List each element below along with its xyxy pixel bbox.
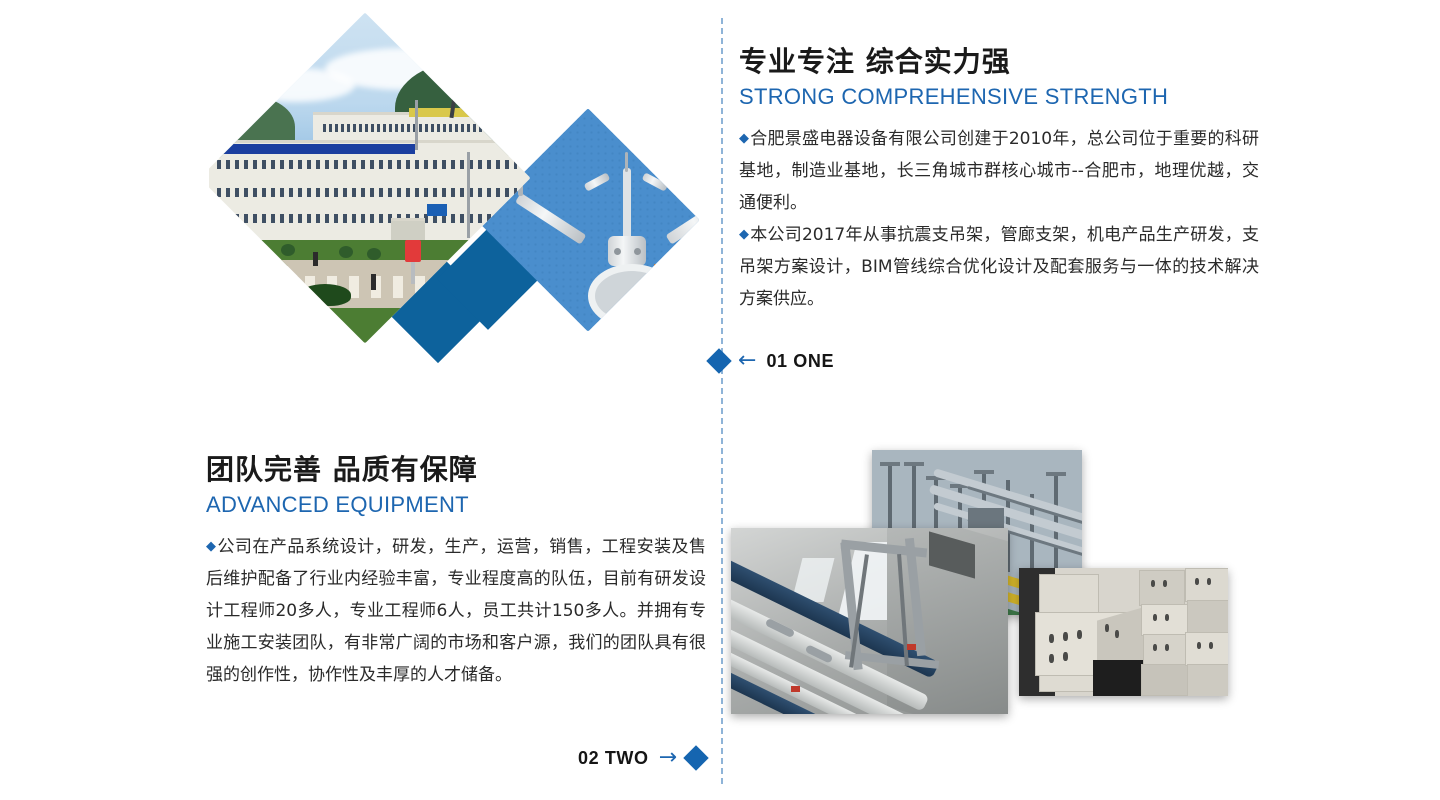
bullet-diamond-icon: ◆ (739, 131, 749, 146)
bullet-diamond-icon: ◆ (739, 227, 749, 242)
paragraph-text: 合肥景盛电器设备有限公司创建于2010年，总公司位于重要的科研基地，制造业基地，… (739, 129, 1259, 213)
cable-tray-stack-illustration (1019, 568, 1228, 696)
section-two-text: 团队完善 品质有保障 ADVANCED EQUIPMENT ◆公司在产品系统设计… (206, 452, 706, 691)
step-marker-two[interactable]: 02 TWO → (578, 745, 705, 771)
bullet-diamond-icon: ◆ (206, 539, 216, 554)
marker-diamond-icon (706, 348, 731, 373)
arrow-right-icon: → (659, 747, 677, 769)
section-one-paragraph-1: ◆合肥景盛电器设备有限公司创建于2010年，总公司位于重要的科研基地，制造业基地… (739, 123, 1259, 219)
section-one-paragraph-2: ◆本公司2017年从事抗震支吊架，管廊支架，机电产品生产研发，支吊架方案设计，B… (739, 219, 1259, 315)
paragraph-text: 本公司2017年从事抗震支吊架，管廊支架，机电产品生产研发，支吊架方案设计，BI… (739, 225, 1259, 309)
pipe-support-photo (731, 528, 1008, 714)
vertical-dashed-divider (721, 18, 723, 784)
section-two-cn-title: 团队完善 品质有保障 (206, 452, 706, 487)
marker-two-label: 02 TWO (578, 748, 649, 769)
section-two-en-title: ADVANCED EQUIPMENT (206, 491, 706, 519)
arrow-left-icon: ← (738, 350, 756, 372)
marker-one-label: 01 ONE (766, 351, 834, 372)
section-one-en-title: STRONG COMPREHENSIVE STRENGTH (739, 83, 1259, 111)
cable-tray-photo (1019, 568, 1228, 696)
section-one-cn-title: 专业专注 综合实力强 (739, 44, 1259, 79)
marker-diamond-icon (683, 745, 708, 770)
installed-pipe-supports-illustration (731, 528, 1008, 714)
section-two-paragraph-1: ◆公司在产品系统设计，研发，生产，运营，销售，工程安装及售后维护配备了行业内经验… (206, 531, 706, 691)
section-one-text: 专业专注 综合实力强 STRONG COMPREHENSIVE STRENGTH… (739, 44, 1259, 315)
paragraph-text: 公司在产品系统设计，研发，生产，运营，销售，工程安装及售后维护配备了行业内经验丰… (206, 537, 706, 685)
step-marker-one[interactable]: ← 01 ONE (710, 348, 834, 374)
poster-canvas: 专业专注 综合实力强 STRONG COMPREHENSIVE STRENGTH… (0, 0, 1440, 800)
